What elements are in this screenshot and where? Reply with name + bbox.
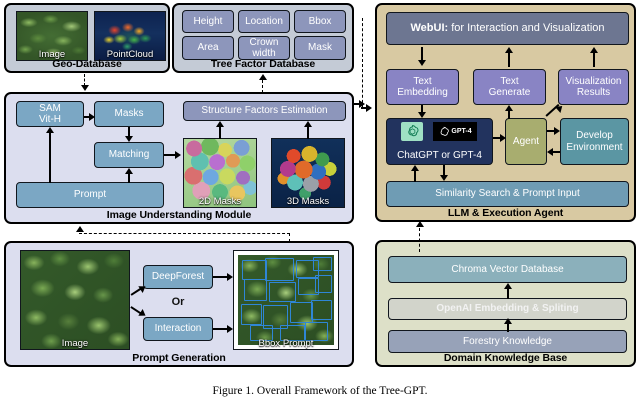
dashed-prompt-gen-to-image-understanding-v — [289, 233, 290, 242]
tile-caption: Bbox Prompt — [234, 338, 338, 349]
node-openai-embedding-spliting[interactable]: OpenAI Embedding & Spliting — [388, 298, 627, 320]
node-similarity-search[interactable]: Similarity Search & Prompt Input — [386, 181, 629, 207]
arrow-interaction-to-bbox — [213, 325, 234, 333]
arrow-visualization-to-webui — [590, 47, 598, 67]
tile-2d-masks: 2D Masks — [183, 138, 257, 208]
node-prompt[interactable]: Prompt — [16, 182, 164, 208]
arrow-prompt-to-sam — [46, 127, 54, 183]
node-visualization-results[interactable]: Visualization Results — [558, 69, 629, 105]
arrow-agent-to-text-generate — [505, 105, 513, 119]
dashed-prompt-gen-to-image-understanding-h — [79, 233, 290, 234]
arrow-structure-to-tree-factor — [259, 74, 267, 82]
node-matching[interactable]: Matching — [94, 142, 164, 168]
dashed-knowledge-base-to-llm — [419, 228, 420, 252]
panel-domain-knowledge-base: Chroma Vector Database OpenAI Embedding … — [375, 240, 636, 367]
node-forestry-knowledge[interactable]: Forestry Knowledge — [388, 330, 627, 353]
panel-image-understanding-module: SAM Vit-H Masks Matching Prompt Structur… — [4, 92, 354, 224]
arrow-similarity-to-chatgpt — [411, 165, 419, 182]
arrow-2d-masks-to-structure — [216, 121, 224, 139]
arrow-image-to-deepforest — [130, 285, 146, 301]
arrow-prompt-gen-to-image-understanding — [76, 226, 84, 234]
label-or: Or — [143, 296, 213, 310]
node-chroma-vector-database[interactable]: Chroma Vector Database — [388, 256, 627, 283]
node-text-embedding[interactable]: Text Embedding — [386, 69, 459, 105]
arrow-geo-to-image-understanding — [81, 85, 89, 93]
panel-title-prompt-generation: Prompt Generation — [6, 352, 352, 364]
arrow-chatgpt-to-agent — [493, 134, 507, 142]
panel-title-geo-database: Geo-Database — [6, 58, 168, 70]
panel-title-image-understanding: Image Understanding Module — [6, 209, 352, 221]
gpt4-badge-label: GPT-4 — [451, 128, 471, 135]
node-sam-vit-h[interactable]: SAM Vit-H — [16, 101, 84, 127]
factor-bbox[interactable]: Bbox — [294, 10, 346, 33]
arrow-text-generate-to-webui — [505, 47, 513, 67]
factor-mask[interactable]: Mask — [294, 36, 346, 60]
panel-title-tree-factor-database: Tree Factor Database — [174, 58, 352, 70]
arrow-deepforest-to-bbox — [213, 273, 234, 281]
tile-pointcloud: PointCloud — [94, 11, 166, 61]
tile-caption: Image — [21, 338, 129, 349]
arrow-knowledge-base-to-llm — [416, 221, 424, 229]
arrow-openai-to-chroma — [504, 283, 512, 299]
arrow-matching-to-2d-masks — [164, 151, 182, 159]
arrow-agent-to-visualization — [546, 105, 564, 119]
tile-caption: 3D Masks — [272, 196, 344, 207]
factor-area[interactable]: Area — [182, 36, 234, 60]
tile-3d-masks: 3D Masks — [271, 138, 345, 208]
arrow-masks-to-matching — [125, 127, 133, 143]
bbox-overlay — [238, 255, 334, 345]
node-text-generate[interactable]: Text Generate — [473, 69, 546, 105]
factor-crown-width[interactable]: Crown width — [238, 36, 290, 60]
factor-height[interactable]: Height — [182, 10, 234, 33]
node-structure-factors-estimation[interactable]: Structure Factors Estimation — [183, 101, 346, 121]
tile-bbox-prompt: Bbox Prompt — [233, 250, 339, 350]
tile-caption: 2D Masks — [184, 196, 256, 207]
panel-llm-execution-agent: WebUI: for Interaction and Visualization… — [375, 3, 636, 222]
panel-tree-factor-database: Height Location Bbox Area Crown width Ma… — [172, 3, 354, 73]
openai-logo-icon — [401, 122, 423, 141]
node-agent[interactable]: Agent — [505, 118, 547, 165]
figure-caption: Figure 1. Overall Framework of the Tree-… — [0, 385, 640, 397]
node-develop-environment[interactable]: Develop Environment — [560, 118, 629, 165]
webui-strong: WebUI: — [410, 22, 448, 34]
arrow-sam-to-masks — [84, 113, 95, 121]
arrow-develop-env-to-agent — [547, 148, 561, 156]
panel-geo-database: Image PointCloud Geo-Database — [4, 3, 170, 73]
arrow-agent-to-develop-env — [547, 127, 561, 135]
figure-root: Image PointCloud Geo-Database Height Loc… — [0, 0, 640, 402]
aerial-photo-texture — [21, 251, 129, 349]
arrow-text-embedding-to-chatgpt — [418, 105, 426, 119]
gpt4-logo-icon: GPT-4 — [433, 122, 477, 141]
node-deepforest[interactable]: DeepForest — [143, 265, 213, 289]
tile-image-prompt: Image — [20, 250, 130, 350]
arrow-forestry-to-openai — [504, 318, 512, 332]
node-interaction[interactable]: Interaction — [143, 317, 213, 341]
factor-location[interactable]: Location — [238, 10, 290, 33]
webui-rest: for Interaction and Visualization — [448, 22, 604, 34]
panel-title-domain-knowledge-base: Domain Knowledge Base — [377, 352, 634, 364]
panel-title-llm-execution-agent: LLM & Execution Agent — [377, 207, 634, 219]
arrow-chatgpt-to-similarity — [440, 165, 448, 182]
chatgpt-label: ChatGPT or GPT-4 — [397, 150, 482, 162]
node-webui[interactable]: WebUI: for Interaction and Visualization — [386, 12, 629, 45]
node-masks[interactable]: Masks — [94, 101, 164, 127]
arrow-prompt-to-matching — [125, 168, 133, 183]
arrow-image-to-interaction — [130, 303, 146, 319]
tile-image-geo: Image — [16, 11, 88, 61]
dashed-database-bus — [362, 18, 363, 108]
arrow-3d-masks-to-structure — [304, 121, 312, 139]
arrow-webui-to-text-embedding — [418, 47, 426, 67]
panel-prompt-generation: Image DeepForest Interaction Or — [4, 241, 354, 367]
arrow-structure-to-bus — [354, 100, 364, 108]
